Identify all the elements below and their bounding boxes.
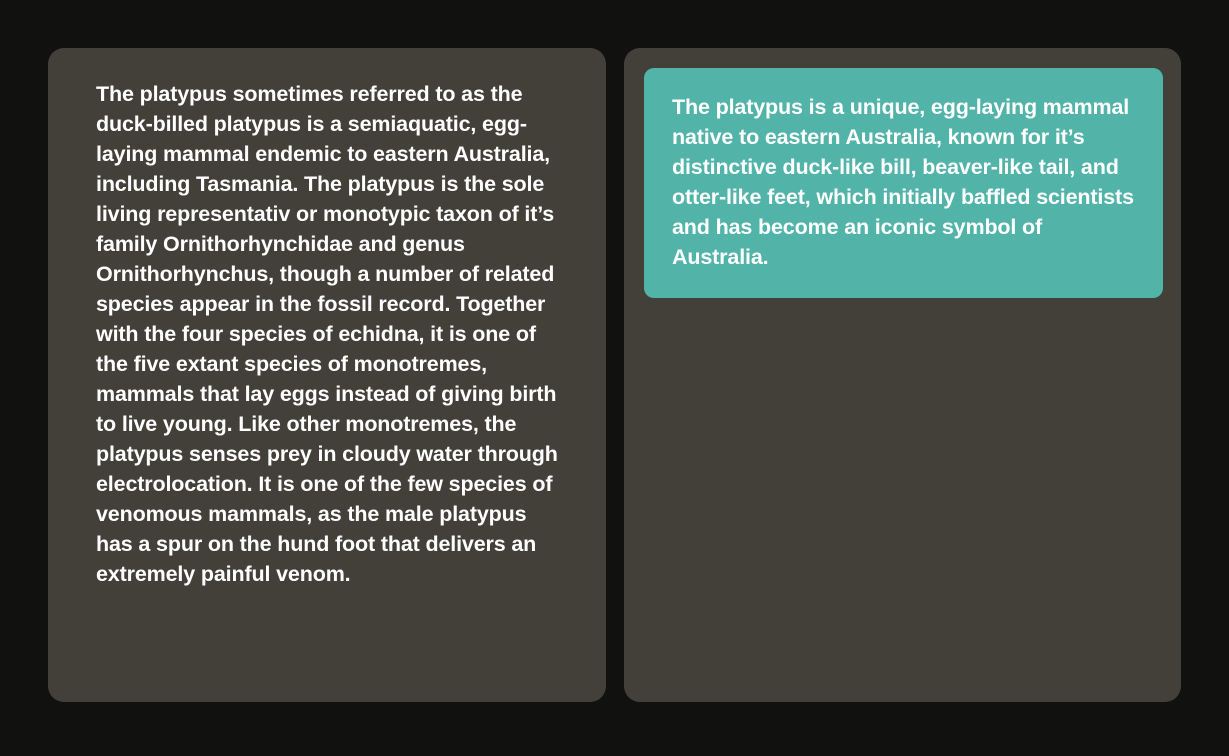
workspace: The platypus sometimes referred to as th… xyxy=(0,0,1229,756)
summary-panel: The platypus is a unique, egg-laying mam… xyxy=(624,48,1181,702)
summary-text-body: The platypus is a unique, egg-laying mam… xyxy=(672,92,1135,272)
summary-card: The platypus is a unique, egg-laying mam… xyxy=(644,68,1163,298)
source-text-body: The platypus sometimes referred to as th… xyxy=(96,79,566,589)
source-panel: The platypus sometimes referred to as th… xyxy=(48,48,606,702)
